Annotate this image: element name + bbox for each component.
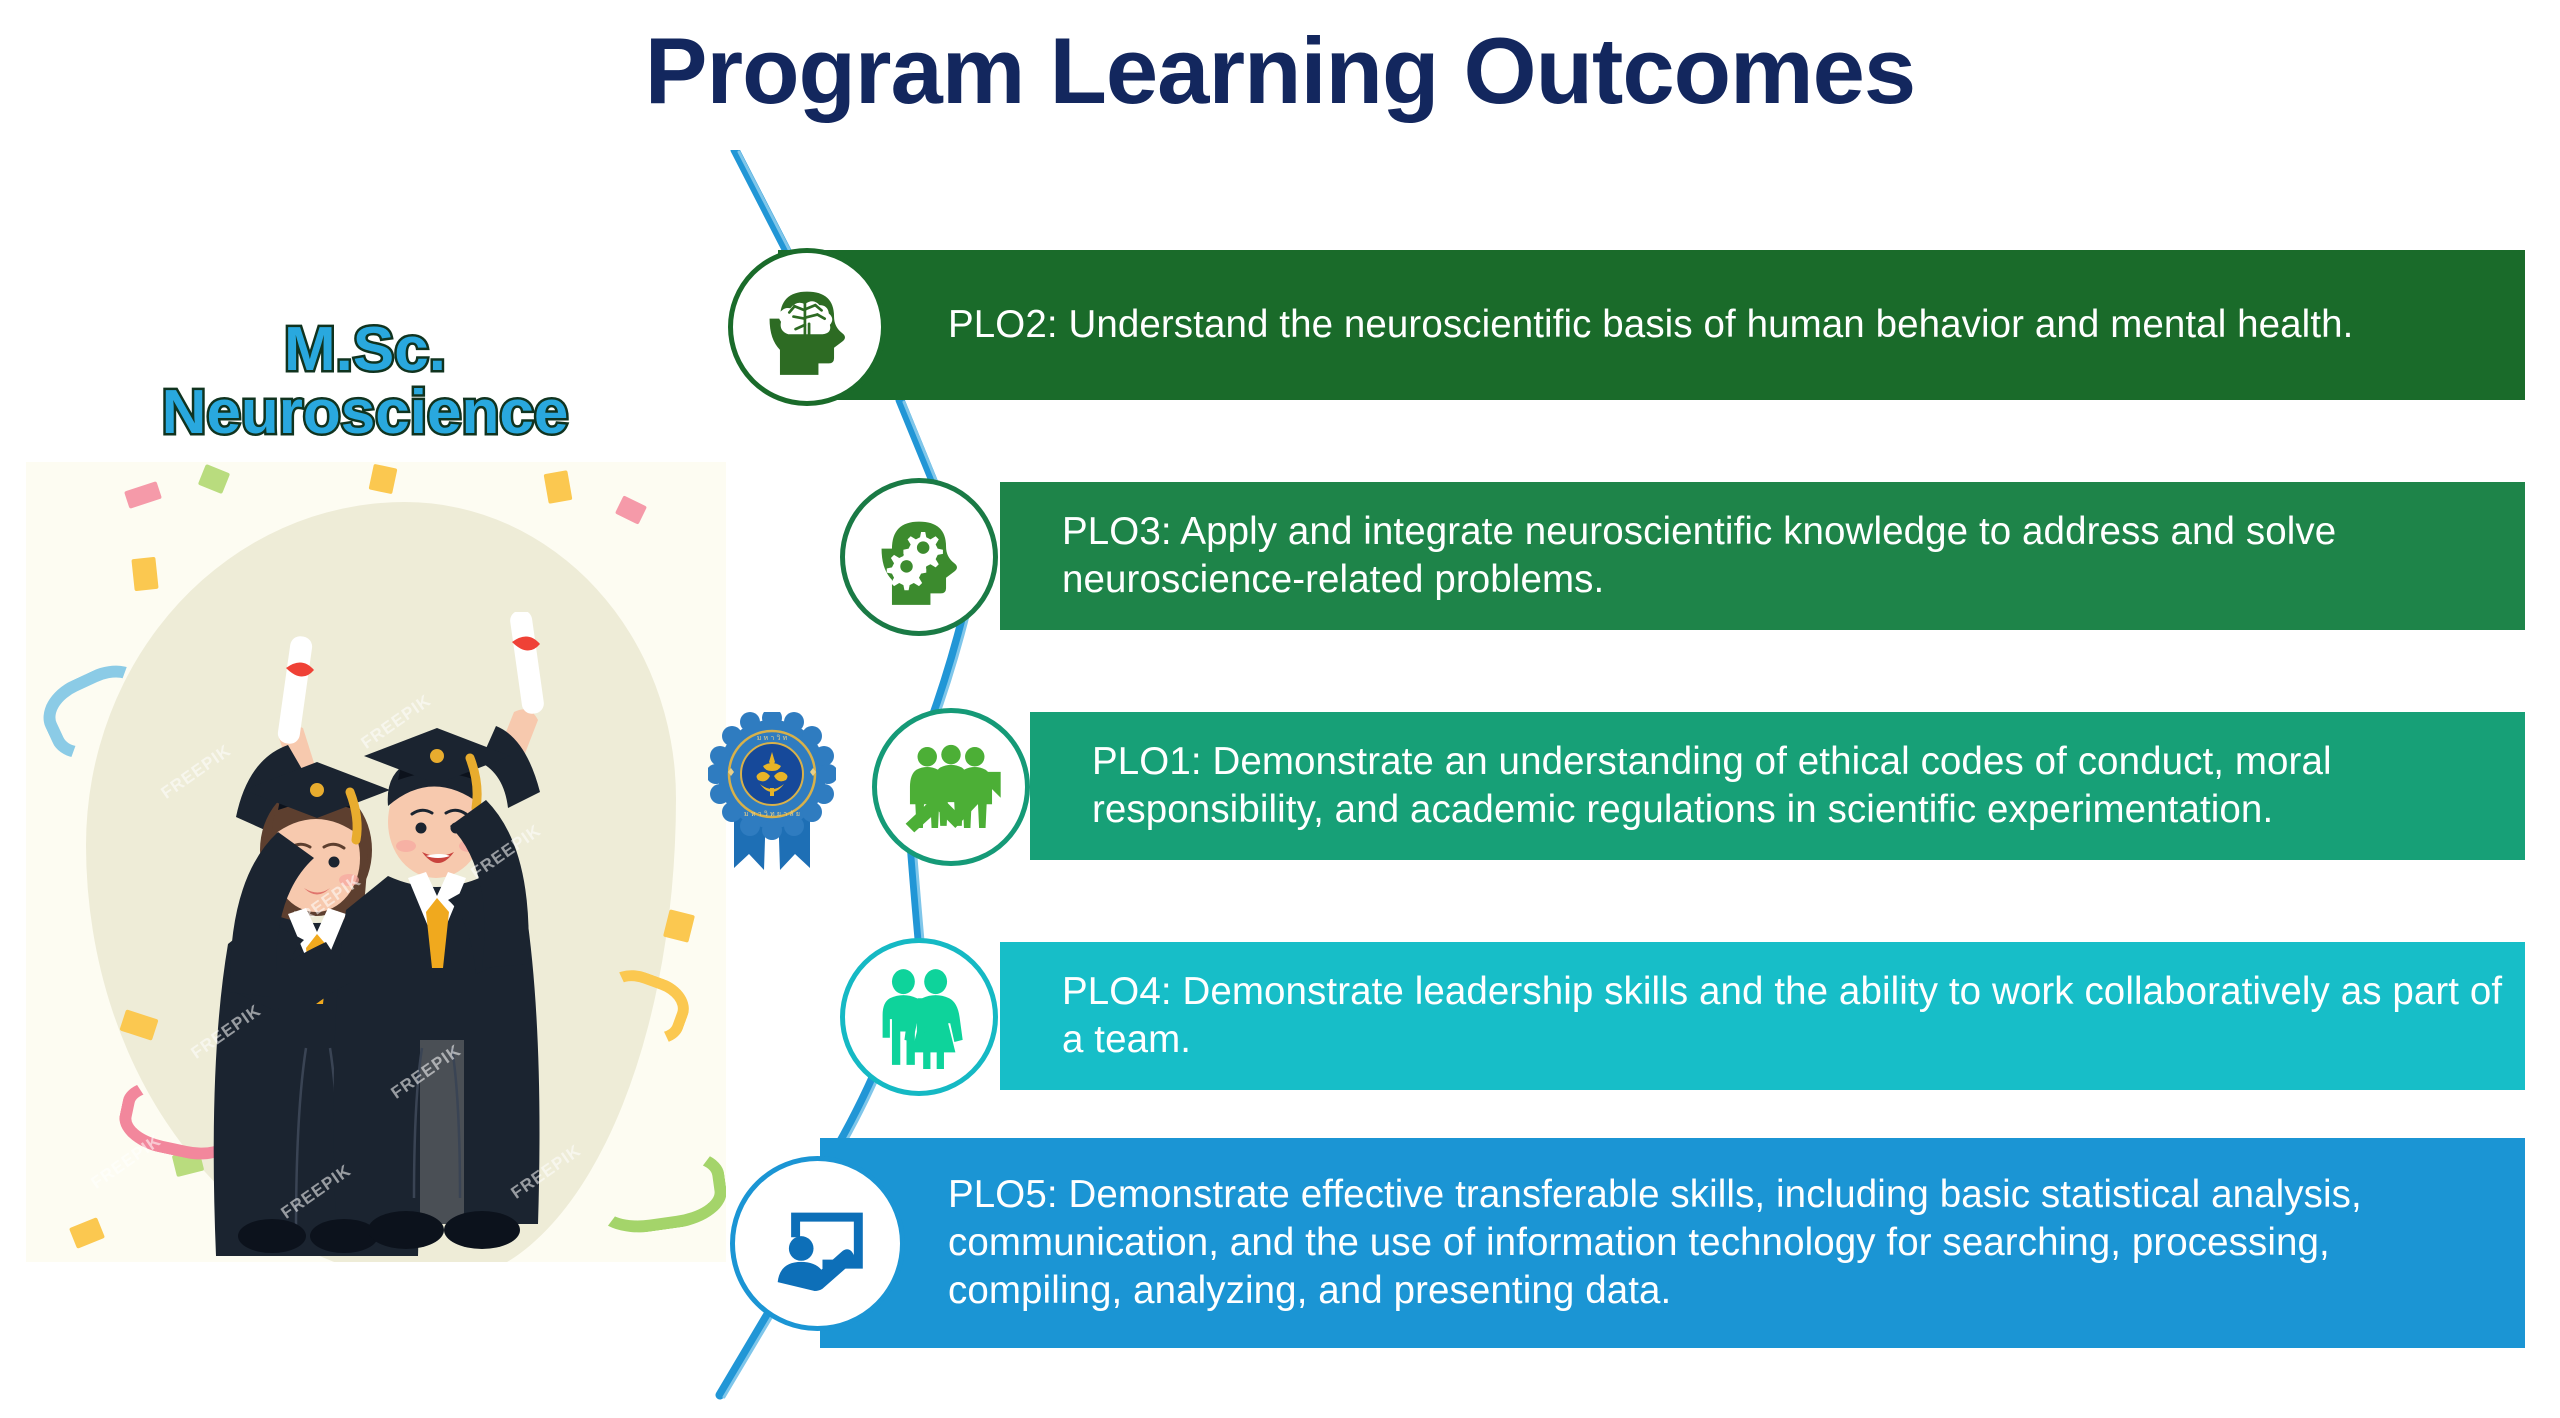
outcome-icon-circle-plo3[interactable] (840, 478, 998, 636)
confetti-piece (663, 909, 695, 942)
confetti-piece (369, 464, 398, 494)
outcome-band-plo3: PLO3: Apply and integrate neuroscientifi… (1000, 482, 2525, 630)
presentation-teaching-icon (762, 1188, 874, 1300)
outcome-icon-circle-plo4[interactable] (840, 938, 998, 1096)
confetti-piece (198, 464, 230, 494)
outcome-icon-circle-plo2[interactable] (728, 248, 886, 406)
outcome-text-plo1: PLO1: Demonstrate an understanding of et… (1092, 738, 2507, 834)
confetti-piece (124, 481, 162, 509)
outcome-icon-circle-plo5[interactable] (730, 1156, 905, 1331)
people-growth-arrow-icon (897, 733, 1005, 841)
confetti-piece (69, 1217, 105, 1249)
outcome-band-plo5: PLO5: Demonstrate effective transferable… (820, 1138, 2525, 1348)
head-with-gears-icon (867, 505, 971, 609)
outcome-text-plo4: PLO4: Demonstrate leadership skills and … (1062, 968, 2507, 1064)
svg-text:ม ห า วิ ท ย า ลั ย: ม ห า วิ ท ย า ลั ย (744, 810, 800, 818)
outcome-band-plo2: PLO2: Understand the neuroscientific bas… (778, 250, 2525, 400)
outcome-text-plo5: PLO5: Demonstrate effective transferable… (948, 1171, 2501, 1315)
outcome-band-plo4: PLO4: Demonstrate leadership skills and … (1000, 942, 2525, 1090)
head-with-brain-icon (755, 275, 859, 379)
outcome-icon-circle-plo1[interactable] (872, 708, 1030, 866)
graduates-illustration: FREEPIK FREEPIK FREEPIK FREEPIK FREEPIK … (26, 462, 726, 1262)
outcome-text-plo3: PLO3: Apply and integrate neuroscientifi… (1062, 508, 2501, 604)
two-people-icon (867, 965, 971, 1069)
graduates-figures (116, 612, 636, 1262)
outcome-text-plo2: PLO2: Understand the neuroscientific bas… (948, 301, 2353, 349)
degree-heading: M.Sc. Neuroscience (20, 318, 710, 444)
confetti-piece (615, 495, 647, 524)
outcome-band-plo1: PLO1: Demonstrate an understanding of et… (1030, 712, 2525, 860)
mahidol-university-seal-rosette: ม ห า วิ ท ม ห า วิ ท ย า ลั ย (708, 712, 836, 887)
confetti-piece (131, 557, 158, 591)
page-title: Program Learning Outcomes (0, 22, 2560, 121)
svg-text:ม ห า วิ ท: ม ห า วิ ท (757, 734, 788, 742)
confetti-piece (544, 470, 573, 504)
